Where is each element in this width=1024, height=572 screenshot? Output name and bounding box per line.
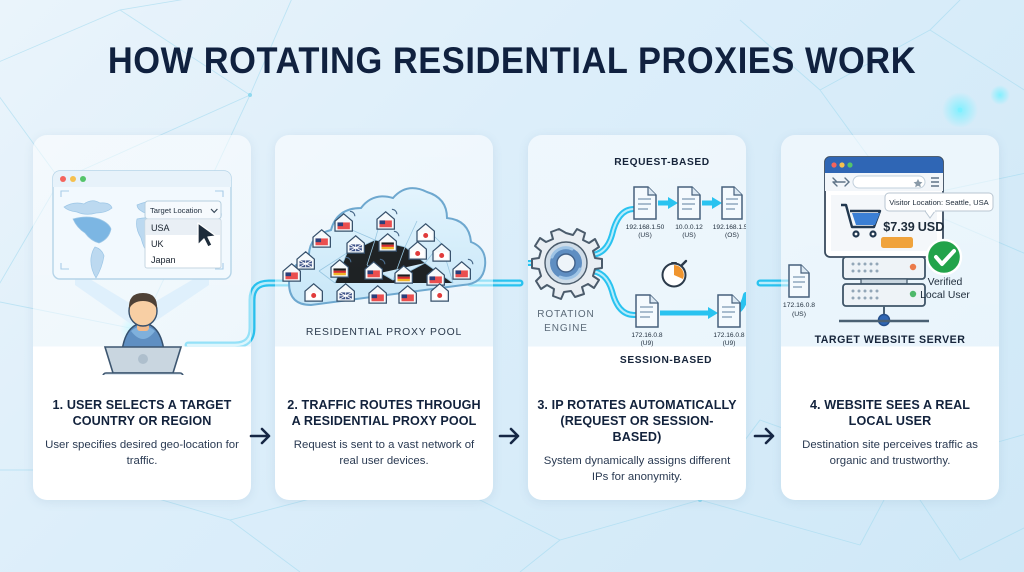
panel-1-subtext: User specifies desired geo-location for … [41, 438, 243, 469]
request-doc-1 [634, 187, 656, 219]
panel-3-illustration: ROTATION ENGINE REQUEST-BASED SESSION-BA… [528, 135, 746, 375]
dropdown-option-uk: UK [151, 239, 164, 249]
dropdown-label: Target Location [150, 206, 202, 215]
panel-4-subtext: Destination site perceives traffic as or… [789, 438, 991, 469]
session-doc-1-ip: 172.16.0.8 [631, 332, 662, 339]
page-title: HOW ROTATING RESIDENTIAL PROXIES WORK [36, 40, 988, 82]
panel-3-ip-rotates[interactable]: ROTATION ENGINE REQUEST-BASED SESSION-BA… [528, 135, 746, 500]
browser-dot-red [60, 176, 66, 182]
panel-4-website-sees-local-user[interactable]: 172.16.0.8 (US) [781, 135, 999, 500]
panel-2-traffic-routes[interactable]: RESIDENTIAL PROXY POOL 2. TRAFFIC ROUTES… [275, 135, 493, 500]
arrow-panel-1-to-2 [248, 423, 274, 449]
session-doc-2-ip: 172.16.0.8 [713, 332, 744, 339]
browser-dot-red [831, 162, 836, 167]
panel-3-subtext: System dynamically assigns different IPs… [536, 454, 738, 485]
buy-button [881, 237, 913, 248]
panel-2-illustration: RESIDENTIAL PROXY POOL [275, 135, 493, 375]
panels-row: Target Location USA UK Japan [0, 135, 1024, 505]
request-based-label: REQUEST-BASED [614, 157, 710, 168]
arrow-panel-2-to-3 [497, 423, 523, 449]
browser-dot-yellow [839, 162, 844, 167]
address-bar [853, 176, 925, 188]
session-doc-1 [636, 295, 658, 327]
incoming-doc-ip: 172.16.0.8 [783, 302, 815, 309]
rotation-engine-label-line1: ROTATION [537, 309, 594, 320]
server-led-red [910, 264, 916, 270]
browser-dot-green [80, 176, 86, 182]
panel-2-subtext: Request is sent to a vast network of rea… [283, 438, 485, 469]
panel-3-heading: 3. IP ROTATES AUTOMATICALLY (REQUEST OR … [536, 397, 738, 445]
panel-1-text: 1. USER SELECTS A TARGET COUNTRY OR REGI… [33, 397, 251, 469]
panel-2-heading: 2. TRAFFIC ROUTES THROUGH A RESIDENTIAL … [283, 397, 485, 429]
panel-1-illustration: Target Location USA UK Japan [33, 135, 251, 375]
panel-4-illustration: 172.16.0.8 (US) [781, 135, 999, 375]
gear-icon [532, 229, 602, 299]
browser-dot-yellow [70, 176, 76, 182]
dropdown-option-usa: USA [151, 223, 170, 233]
stopwatch-icon [663, 261, 687, 287]
server-led-green [910, 291, 916, 297]
target-location-dropdown: Target Location USA UK Japan [145, 201, 221, 268]
panel-4-heading: 4. WEBSITE SEES A REAL LOCAL USER [789, 397, 991, 429]
verified-badge-line2: Local User [920, 290, 970, 301]
browser-dot-green [847, 162, 852, 167]
server-rack-icon [839, 257, 929, 326]
panel-3-text: 3. IP ROTATES AUTOMATICALLY (REQUEST OR … [528, 397, 746, 485]
rotation-engine-label-line2: ENGINE [544, 323, 588, 334]
request-doc-2-ip: 10.0.0.12 [675, 224, 703, 231]
request-doc-3-country: (OS) [725, 232, 739, 239]
dropdown-option-japan: Japan [151, 255, 176, 265]
panel-2-text: 2. TRAFFIC ROUTES THROUGH A RESIDENTIAL … [275, 397, 493, 469]
session-doc-2 [718, 295, 740, 327]
tooltip-text: Visitor Location: Seattle, USA [889, 198, 989, 207]
panel-4-text: 4. WEBSITE SEES A REAL LOCAL USER Destin… [781, 397, 999, 469]
request-doc-3 [722, 187, 742, 219]
incoming-doc-country: (US) [792, 311, 806, 318]
verified-badge-line1: Verified [928, 277, 963, 288]
request-doc-3-ip: 192.168.1.50 [713, 224, 746, 231]
incoming-doc [789, 265, 809, 297]
panel-2-caption: RESIDENTIAL PROXY POOL [306, 327, 462, 338]
price-value: $7.39 [883, 220, 915, 234]
arrow-panel-3-to-4 [752, 423, 778, 449]
currency-value: USD [918, 220, 945, 234]
session-doc-1-country: (U9) [641, 340, 654, 347]
request-doc-2-country: (US) [682, 232, 696, 239]
panel-4-caption: TARGET WEBSITE SERVER [815, 334, 966, 346]
request-doc-1-country: (US) [638, 232, 652, 239]
request-doc-2 [678, 187, 700, 219]
check-circle-icon [927, 240, 961, 274]
session-based-label: SESSION-BASED [620, 355, 712, 366]
session-doc-2-country: (U9) [723, 340, 736, 347]
request-doc-1-ip: 192.168.1.50 [626, 224, 665, 231]
panel-1-user-selects-target[interactable]: Target Location USA UK Japan [33, 135, 251, 500]
panel-1-heading: 1. USER SELECTS A TARGET COUNTRY OR REGI… [41, 397, 243, 429]
